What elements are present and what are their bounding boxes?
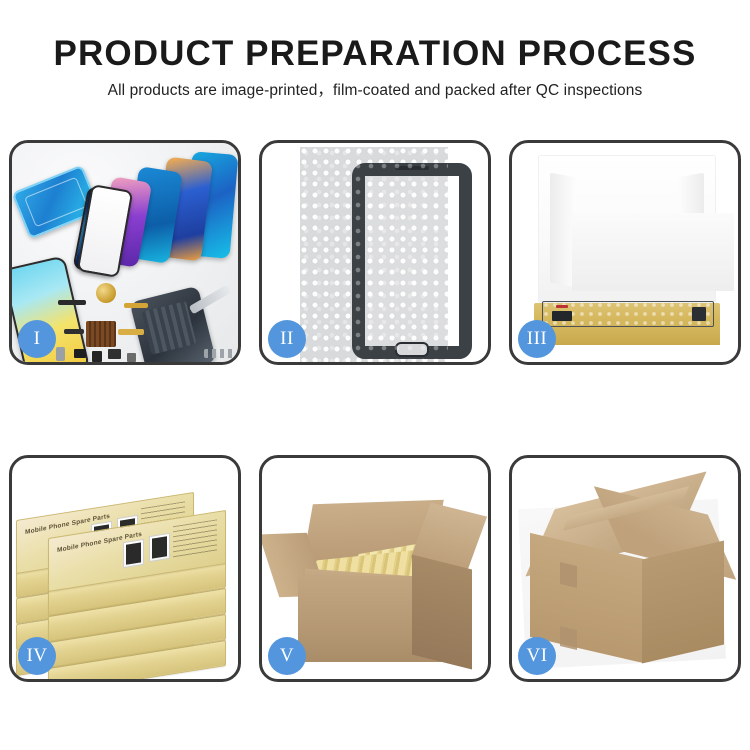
header: PRODUCT PREPARATION PROCESS All products…	[0, 34, 750, 101]
tape-tab-upper	[560, 562, 577, 588]
step-panel-1: I	[9, 140, 241, 365]
step-badge-3: III	[518, 320, 556, 358]
step-badge-5: V	[268, 637, 306, 675]
bubble-sheen	[300, 147, 448, 362]
ic-chip-grid-icon	[86, 321, 116, 347]
flex-cable-small-icon	[64, 329, 84, 334]
button-icon	[127, 353, 136, 362]
kraft-tray-front	[534, 327, 720, 345]
camera-module-icon	[108, 349, 121, 359]
page-subtitle: All products are image-printed，film-coat…	[0, 81, 750, 101]
step-badge-4: IV	[18, 637, 56, 675]
screws-icon	[204, 349, 234, 358]
infographic-page: PRODUCT PREPARATION PROCESS All products…	[0, 0, 750, 750]
step-badge-2: II	[268, 320, 306, 358]
foam-insert-icon	[572, 213, 734, 291]
step-panel-5: V	[259, 455, 491, 682]
step-panel-3: III	[509, 140, 741, 365]
tape-tab-lower	[560, 626, 577, 650]
sim-tray-icon	[56, 347, 65, 361]
white-box-lid-icon	[538, 155, 716, 303]
flex-cable-ribbon-icon	[118, 329, 144, 335]
wrapped-lcd-icon	[542, 301, 714, 327]
chip-icon	[74, 349, 86, 358]
box-spec-lines-front	[173, 519, 217, 558]
vibrator-motor-icon	[96, 283, 116, 303]
carton-side-face	[412, 555, 472, 670]
step-badge-6: VI	[518, 637, 556, 675]
step-panel-6: VI	[509, 455, 741, 682]
box-photo-front-2	[149, 533, 170, 562]
flex-cable-icon	[58, 300, 86, 305]
lcd-connector	[552, 311, 572, 321]
sealed-carton-side-face	[642, 541, 724, 664]
page-title: PRODUCT PREPARATION PROCESS	[0, 34, 750, 74]
step-panel-2: II	[259, 140, 491, 365]
speaker-icon	[92, 351, 102, 362]
step-panel-4: Mobile Phone Spare Parts Mobile Phone Sp…	[9, 455, 241, 682]
bubble-wrap-backdrop	[300, 147, 448, 362]
steps-grid: I II	[9, 140, 741, 682]
lcd-red-mark	[556, 305, 568, 308]
lcd-connector-right	[692, 307, 706, 321]
box-photo-front-1	[123, 539, 144, 568]
flex-cable-gold-icon	[124, 303, 148, 308]
step-badge-1: I	[18, 320, 56, 358]
